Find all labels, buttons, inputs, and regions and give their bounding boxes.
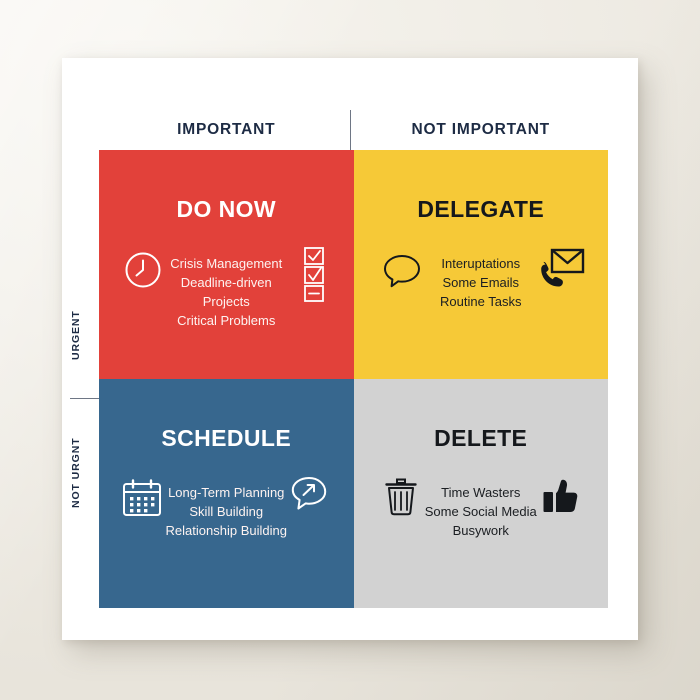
quadrant-line: Critical Problems (149, 311, 304, 330)
quadrant-line: Some Social Media (404, 502, 559, 521)
quadrant-lines-do-now: Crisis Management Deadline-driven Projec… (149, 254, 304, 330)
column-header-not-important: NOT IMPORTANT (354, 112, 609, 148)
quadrant-line: Crisis Management (149, 254, 304, 273)
quadrant-grid: DO NOW Crisis Management D (99, 150, 608, 608)
quadrant-line: Long-Term Planning (149, 483, 304, 502)
quadrant-line: Busywork (404, 521, 559, 540)
eisenhower-matrix-image: IMPORTANT NOT IMPORTANT URGENT NOT URGNT… (0, 0, 700, 700)
quadrant-line: Projects (149, 292, 304, 311)
quadrant-title-delegate: DELEGATE (354, 196, 609, 223)
quadrant-schedule[interactable]: SCHEDULE (99, 379, 354, 608)
quadrant-lines-delete: Time Wasters Some Social Media Busywork (404, 483, 559, 540)
quadrant-lines-schedule: Long-Term Planning Skill Building Relati… (149, 483, 304, 540)
column-divider-line (350, 110, 351, 150)
row-label-urgent: URGENT (70, 293, 92, 377)
quadrant-delete[interactable]: DELETE Time Wasters Some Social Media (354, 379, 609, 608)
quadrant-do-now[interactable]: DO NOW Crisis Management D (99, 150, 354, 379)
quadrant-line: Relationship Building (149, 521, 304, 540)
row-label-not-urgent: NOT URGNT (70, 418, 92, 528)
quadrant-line: Interuptations (404, 254, 559, 273)
quadrant-line: Deadline-driven (149, 273, 304, 292)
quadrant-line: Some Emails (404, 273, 559, 292)
quadrant-title-delete: DELETE (354, 425, 609, 452)
quadrant-line: Skill Building (149, 502, 304, 521)
column-header-row: IMPORTANT NOT IMPORTANT (99, 112, 608, 148)
matrix-card: IMPORTANT NOT IMPORTANT URGENT NOT URGNT… (62, 58, 638, 640)
column-header-important: IMPORTANT (99, 112, 354, 148)
quadrant-line: Routine Tasks (404, 292, 559, 311)
quadrant-title-do-now: DO NOW (99, 196, 354, 223)
quadrant-title-schedule: SCHEDULE (99, 425, 354, 452)
quadrant-line: Time Wasters (404, 483, 559, 502)
checklist-icon (302, 246, 328, 304)
quadrant-lines-delegate: Interuptations Some Emails Routine Tasks (404, 254, 559, 311)
quadrant-delegate[interactable]: DELEGATE Interuptations Some Emails Rout… (354, 150, 609, 379)
